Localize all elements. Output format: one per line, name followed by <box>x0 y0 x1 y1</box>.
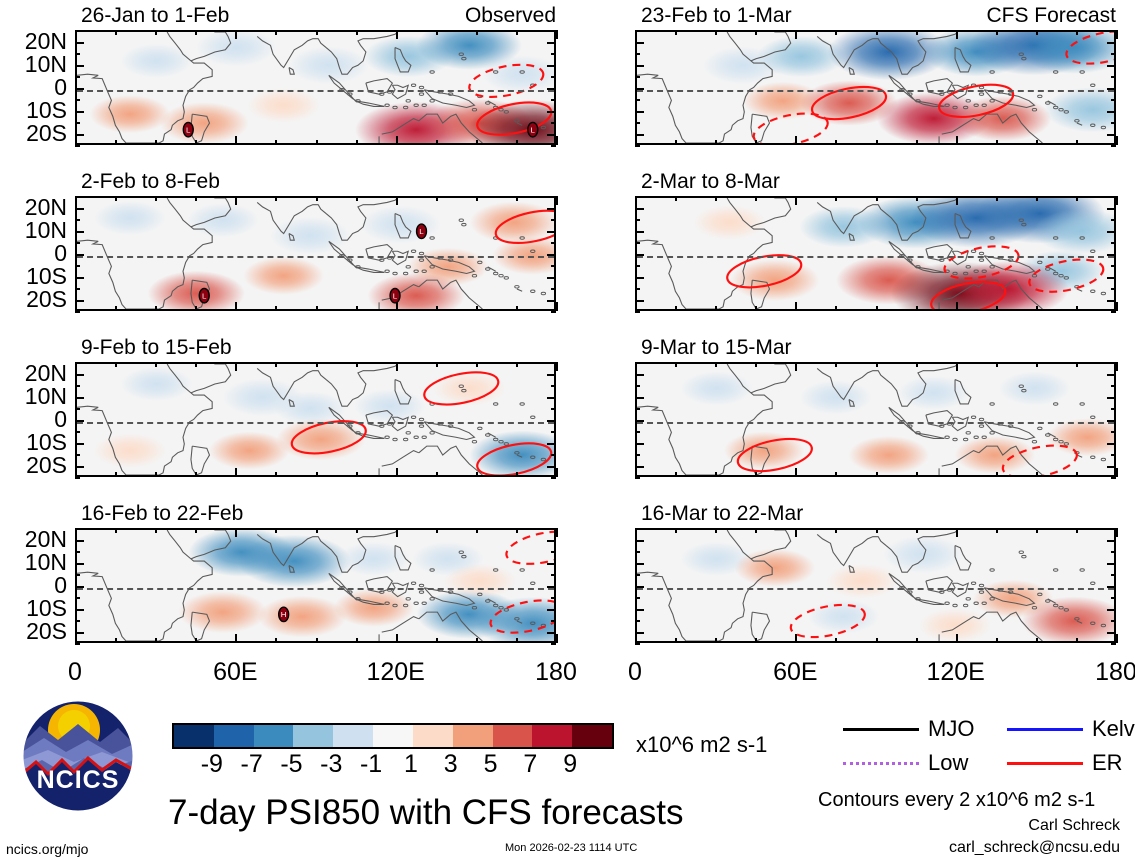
x-axis-tick <box>996 472 998 477</box>
wave-contours <box>637 530 1114 641</box>
x-axis-tick <box>356 140 358 145</box>
x-axis-tick <box>356 638 358 643</box>
y-axis-tick <box>547 254 556 256</box>
x-axis-tick <box>715 362 717 367</box>
y-axis-tick <box>75 88 84 90</box>
x-axis-tick <box>516 30 518 35</box>
x-axis-tick <box>115 196 117 201</box>
x-axis-tick <box>1076 306 1078 311</box>
x-axis-tick <box>516 140 518 145</box>
equator-line <box>637 90 1114 92</box>
x-axis-tick <box>275 362 277 367</box>
x-axis-tick <box>795 30 797 39</box>
figure-title: 7-day PSI850 with CFS forecasts <box>168 795 684 830</box>
y-axis-tick <box>551 385 556 387</box>
y-axis-tick <box>635 99 640 101</box>
y-axis-tick <box>75 443 84 445</box>
x-axis-tick <box>155 362 157 367</box>
y-axis-tick <box>551 99 556 101</box>
x-axis-tick <box>436 30 438 35</box>
y-axis-tick <box>1107 277 1116 279</box>
y-axis-tick <box>635 443 644 445</box>
x-axis-tick <box>876 196 878 201</box>
x-axis-tick <box>476 306 478 311</box>
y-axis-tick <box>635 597 640 599</box>
x-axis-tick <box>675 472 677 477</box>
equator-line <box>77 256 554 258</box>
y-axis-tick <box>1111 145 1116 147</box>
y-axis-tick <box>1111 385 1116 387</box>
y-axis-tick <box>75 219 80 221</box>
y-axis-tick <box>635 122 640 124</box>
x-axis-tick <box>115 30 117 35</box>
map-panel: L L L <box>75 196 556 311</box>
equator-line <box>77 90 554 92</box>
x-axis-tick <box>476 362 478 367</box>
svg-text:L: L <box>419 227 424 236</box>
x-axis-tick <box>235 30 237 39</box>
x-axis-tick <box>556 196 558 205</box>
x-axis-tick <box>1036 638 1038 643</box>
y-axis-tick <box>75 311 80 313</box>
colorbar-segment <box>453 725 493 747</box>
y-axis-tick <box>1107 111 1116 113</box>
y-axis-tick <box>1111 288 1116 290</box>
x-axis-tick <box>675 528 677 533</box>
x-axis-tick <box>396 362 398 371</box>
x-axis-tick <box>436 140 438 145</box>
x-axis-tick <box>835 306 837 311</box>
column-header: CFS Forecast <box>635 5 1116 26</box>
ncics-logo-graphic <box>22 700 134 812</box>
x-axis-tick <box>835 638 837 643</box>
x-axis-tick <box>436 528 438 533</box>
y-axis-tick <box>1107 300 1116 302</box>
y-axis-tick <box>75 254 84 256</box>
y-axis-tick <box>551 362 556 364</box>
legend-label: Low <box>928 752 968 774</box>
wave-contours: L L <box>77 32 554 143</box>
x-axis-tick <box>155 140 157 145</box>
x-axis-tick <box>876 306 878 311</box>
x-axis-tick <box>476 638 478 643</box>
y-axis-tick <box>75 374 84 376</box>
y-axis-tick <box>1111 620 1116 622</box>
y-axis-tick <box>635 586 644 588</box>
x-axis-tick <box>1116 468 1118 477</box>
y-axis-tick <box>635 300 644 302</box>
x-axis-tick <box>956 196 958 205</box>
x-axis-tick <box>996 306 998 311</box>
colorbar-segment <box>254 725 294 747</box>
x-axis-tick <box>356 362 358 367</box>
y-axis-tick <box>635 420 644 422</box>
y-axis-tick-label: 0 <box>3 76 67 99</box>
wave-contours <box>637 198 1114 309</box>
panel-title: 9-Mar to 15-Mar <box>641 337 792 358</box>
x-axis-tick <box>436 196 438 201</box>
y-axis-tick <box>547 65 556 67</box>
x-axis-tick <box>476 528 478 533</box>
y-axis-tick <box>547 208 556 210</box>
x-axis-tick <box>396 302 398 311</box>
y-axis-tick <box>635 42 644 44</box>
y-axis-tick <box>551 53 556 55</box>
y-axis-tick <box>547 134 556 136</box>
y-axis-tick <box>75 597 80 599</box>
x-axis-tick <box>876 30 878 35</box>
y-axis-tick <box>1111 242 1116 244</box>
y-axis-tick <box>75 540 84 542</box>
x-axis-tick <box>835 528 837 533</box>
x-axis-tick <box>1076 638 1078 643</box>
svg-text:L: L <box>202 292 207 301</box>
x-axis-tick <box>876 140 878 145</box>
x-axis-tick <box>275 30 277 35</box>
x-axis-tick <box>235 196 237 205</box>
x-axis-tick <box>115 638 117 643</box>
x-axis-tick <box>795 528 797 537</box>
map-panel <box>635 30 1116 145</box>
y-axis-tick <box>1111 196 1116 198</box>
y-axis-tick <box>547 443 556 445</box>
colorbar-segment <box>572 725 612 747</box>
y-axis-tick <box>1111 574 1116 576</box>
y-axis-tick <box>75 632 84 634</box>
x-axis-tick <box>715 472 717 477</box>
legend-item-low: Low <box>843 752 968 774</box>
x-axis-tick <box>235 528 237 537</box>
wave-contours <box>637 32 1114 143</box>
y-axis-tick <box>1107 563 1116 565</box>
y-axis-tick <box>1107 65 1116 67</box>
x-axis-tick <box>275 306 277 311</box>
x-axis-tick <box>755 528 757 533</box>
y-axis-tick <box>1111 311 1116 313</box>
x-axis-tick <box>316 30 318 35</box>
y-axis-tick <box>551 408 556 410</box>
y-axis-tick <box>551 30 556 32</box>
x-axis-tick <box>916 638 918 643</box>
y-axis-tick <box>1107 609 1116 611</box>
column-header: Observed <box>75 5 556 26</box>
x-axis-tick <box>916 196 918 201</box>
x-axis-tick <box>916 528 918 533</box>
x-axis-tick <box>795 196 797 205</box>
x-axis-tick <box>1076 362 1078 367</box>
x-axis-tick <box>75 468 77 477</box>
x-axis-tick-label: 120E <box>361 660 431 685</box>
x-axis-tick <box>195 362 197 367</box>
site-url: ncics.org/mjo <box>6 842 88 856</box>
x-axis-tick <box>996 30 998 35</box>
x-axis-tick <box>1116 30 1118 39</box>
x-axis-tick <box>75 136 77 145</box>
y-axis-tick <box>75 477 80 479</box>
x-axis-tick-label: 0 <box>600 660 670 685</box>
y-axis-tick-label: 10S <box>3 265 67 288</box>
y-axis-tick <box>1107 208 1116 210</box>
y-axis-tick <box>75 53 80 55</box>
y-axis-tick <box>75 408 80 410</box>
x-axis-tick <box>436 472 438 477</box>
x-axis-tick-label: 60E <box>760 660 830 685</box>
y-axis-tick <box>75 397 84 399</box>
y-axis-tick <box>75 134 84 136</box>
x-axis-tick-label: 180 <box>521 660 591 685</box>
y-axis-tick <box>635 477 640 479</box>
y-axis-tick <box>547 632 556 634</box>
x-axis-tick <box>1116 136 1118 145</box>
colorbar <box>172 723 614 749</box>
y-axis-tick <box>75 42 84 44</box>
x-axis-tick <box>396 196 398 205</box>
x-axis-tick <box>835 30 837 35</box>
x-axis-tick <box>235 362 237 371</box>
y-axis-tick <box>635 408 640 410</box>
y-axis-tick <box>1111 53 1116 55</box>
x-axis-tick <box>635 468 637 477</box>
x-axis-tick <box>516 362 518 367</box>
x-axis-tick <box>316 638 318 643</box>
x-axis-tick <box>155 472 157 477</box>
x-axis-tick-label: 180 <box>1081 660 1135 685</box>
wave-contours: L L L <box>77 198 554 309</box>
x-axis-tick <box>755 472 757 477</box>
y-axis-tick <box>547 300 556 302</box>
y-axis-tick <box>75 111 84 113</box>
x-axis-tick <box>956 362 958 371</box>
y-axis-tick <box>635 53 640 55</box>
y-axis-tick-label: 20N <box>3 30 67 53</box>
y-axis-tick-label: 10S <box>3 431 67 454</box>
x-axis-tick <box>956 468 958 477</box>
x-axis-tick <box>396 136 398 145</box>
y-axis-tick <box>1111 30 1116 32</box>
y-axis-tick <box>635 397 644 399</box>
y-axis-tick <box>635 219 640 221</box>
x-axis-tick <box>1076 30 1078 35</box>
wave-contours <box>77 364 554 475</box>
x-axis-tick <box>396 468 398 477</box>
y-axis-tick <box>1111 528 1116 530</box>
x-axis-tick <box>795 468 797 477</box>
x-axis-tick <box>755 306 757 311</box>
x-axis-tick <box>516 638 518 643</box>
y-axis-tick <box>547 466 556 468</box>
y-axis-tick <box>551 145 556 147</box>
x-axis-tick <box>1076 528 1078 533</box>
wave-contours: H <box>77 530 554 641</box>
x-axis-tick <box>516 196 518 201</box>
y-axis-tick <box>547 420 556 422</box>
x-axis-tick <box>715 140 717 145</box>
y-axis-tick <box>635 311 640 313</box>
x-axis-tick <box>715 638 717 643</box>
x-axis-tick <box>396 30 398 39</box>
x-axis-tick <box>396 634 398 643</box>
y-axis-tick <box>75 231 84 233</box>
y-axis-tick <box>635 374 644 376</box>
y-axis-tick <box>551 196 556 198</box>
x-axis-tick <box>556 136 558 145</box>
y-axis-tick <box>1107 443 1116 445</box>
y-axis-tick <box>635 431 640 433</box>
y-axis-tick <box>1107 374 1116 376</box>
legend-line-swatch <box>1007 762 1083 765</box>
y-axis-tick <box>1111 454 1116 456</box>
y-axis-tick <box>635 265 640 267</box>
svg-text:H: H <box>281 610 287 619</box>
colorbar-segment <box>532 725 572 747</box>
colorbar-segment <box>493 725 533 747</box>
x-axis-tick <box>755 638 757 643</box>
y-axis-tick <box>1107 42 1116 44</box>
y-axis-tick <box>75 563 84 565</box>
y-axis-tick <box>75 208 84 210</box>
panel-title: 2-Feb to 8-Feb <box>81 171 220 192</box>
x-axis-tick <box>75 302 77 311</box>
x-axis-tick <box>556 302 558 311</box>
y-axis-tick <box>75 277 84 279</box>
x-axis-tick <box>835 362 837 367</box>
x-axis-tick <box>1036 528 1038 533</box>
x-axis-tick <box>675 30 677 35</box>
y-axis-tick <box>547 111 556 113</box>
y-axis-tick <box>547 42 556 44</box>
y-axis-tick <box>551 620 556 622</box>
x-axis-tick <box>1116 302 1118 311</box>
y-axis-tick <box>635 76 640 78</box>
x-axis-tick <box>996 140 998 145</box>
x-axis-tick <box>235 634 237 643</box>
x-axis-tick <box>235 302 237 311</box>
x-axis-tick <box>516 472 518 477</box>
y-axis-tick <box>635 620 640 622</box>
y-axis-tick-label: 10N <box>3 551 67 574</box>
x-axis-tick <box>195 196 197 201</box>
x-axis-tick <box>755 30 757 35</box>
y-axis-tick <box>75 30 80 32</box>
x-axis-tick <box>556 362 558 371</box>
y-axis-tick-label: 20S <box>3 122 67 145</box>
map-panel: H <box>75 528 556 643</box>
y-axis-tick <box>551 76 556 78</box>
x-axis-tick <box>795 634 797 643</box>
colorbar-tick-label: 9 <box>547 752 593 777</box>
x-axis-tick <box>195 140 197 145</box>
y-axis-tick <box>75 288 80 290</box>
x-axis-tick <box>755 196 757 201</box>
map-panel <box>635 196 1116 311</box>
x-axis-tick <box>675 140 677 145</box>
x-axis-tick <box>876 638 878 643</box>
x-axis-tick <box>195 30 197 35</box>
ncics-logo: NCICS <box>22 700 134 812</box>
x-axis-tick <box>436 638 438 643</box>
x-axis-tick <box>436 362 438 367</box>
y-axis-tick <box>75 122 80 124</box>
x-axis-tick <box>956 136 958 145</box>
colorbar-segment <box>214 725 254 747</box>
y-axis-tick <box>551 219 556 221</box>
x-axis-tick <box>916 140 918 145</box>
y-axis-tick <box>75 643 80 645</box>
map-panel <box>635 362 1116 477</box>
y-axis-tick <box>75 431 80 433</box>
y-axis-tick <box>75 145 80 147</box>
x-axis-tick <box>356 306 358 311</box>
y-axis-tick <box>551 431 556 433</box>
y-axis-tick <box>75 265 80 267</box>
x-axis-tick <box>356 528 358 533</box>
y-axis-tick <box>635 609 644 611</box>
x-axis-tick <box>275 472 277 477</box>
y-axis-tick <box>551 242 556 244</box>
y-axis-tick <box>635 643 640 645</box>
x-axis-tick <box>956 634 958 643</box>
y-axis-tick <box>635 208 644 210</box>
x-axis-tick <box>1076 472 1078 477</box>
x-axis-tick <box>996 196 998 201</box>
x-axis-tick-label: 0 <box>40 660 110 685</box>
x-axis-tick <box>1116 528 1118 537</box>
x-axis-tick <box>956 528 958 537</box>
y-axis-tick-label: 20N <box>3 362 67 385</box>
x-axis-tick <box>835 196 837 201</box>
y-axis-tick <box>551 265 556 267</box>
legend-item-kelvin-x2: Kelvin x2 <box>1007 718 1135 740</box>
y-axis-tick <box>75 466 84 468</box>
y-axis-tick <box>635 111 644 113</box>
y-axis-tick <box>547 231 556 233</box>
y-axis-tick-label: 20N <box>3 196 67 219</box>
y-axis-tick <box>635 466 644 468</box>
x-axis-tick <box>755 362 757 367</box>
colorbar-units-label: x10^6 m2 s-1 <box>636 734 767 756</box>
y-axis-tick <box>551 528 556 530</box>
x-axis-tick <box>516 528 518 533</box>
y-axis-tick <box>635 563 644 565</box>
y-axis-tick-label: 10N <box>3 385 67 408</box>
panel-title: 16-Mar to 22-Mar <box>641 503 803 524</box>
svg-text:L: L <box>393 292 398 301</box>
y-axis-tick <box>635 30 640 32</box>
legend-label: Kelvin x2 <box>1092 718 1135 740</box>
y-axis-tick <box>551 551 556 553</box>
svg-text:L: L <box>531 126 536 135</box>
legend-line-swatch <box>843 762 919 765</box>
y-axis-tick <box>547 540 556 542</box>
y-axis-tick <box>75 300 84 302</box>
map-panel <box>635 528 1116 643</box>
generation-timestamp: Mon 2026-02-23 1114 UTC <box>505 843 637 854</box>
y-axis-tick <box>1111 477 1116 479</box>
x-axis-tick <box>916 30 918 35</box>
x-axis-tick <box>1036 30 1038 35</box>
x-axis-tick <box>715 30 717 35</box>
x-axis-tick <box>876 472 878 477</box>
y-axis-tick <box>547 88 556 90</box>
x-axis-tick <box>635 634 637 643</box>
y-axis-tick <box>635 362 640 364</box>
y-axis-tick <box>75 420 84 422</box>
y-axis-tick <box>75 242 80 244</box>
x-axis-tick <box>316 196 318 201</box>
y-axis-tick <box>551 477 556 479</box>
x-axis-tick <box>195 528 197 533</box>
x-axis-tick <box>356 196 358 201</box>
